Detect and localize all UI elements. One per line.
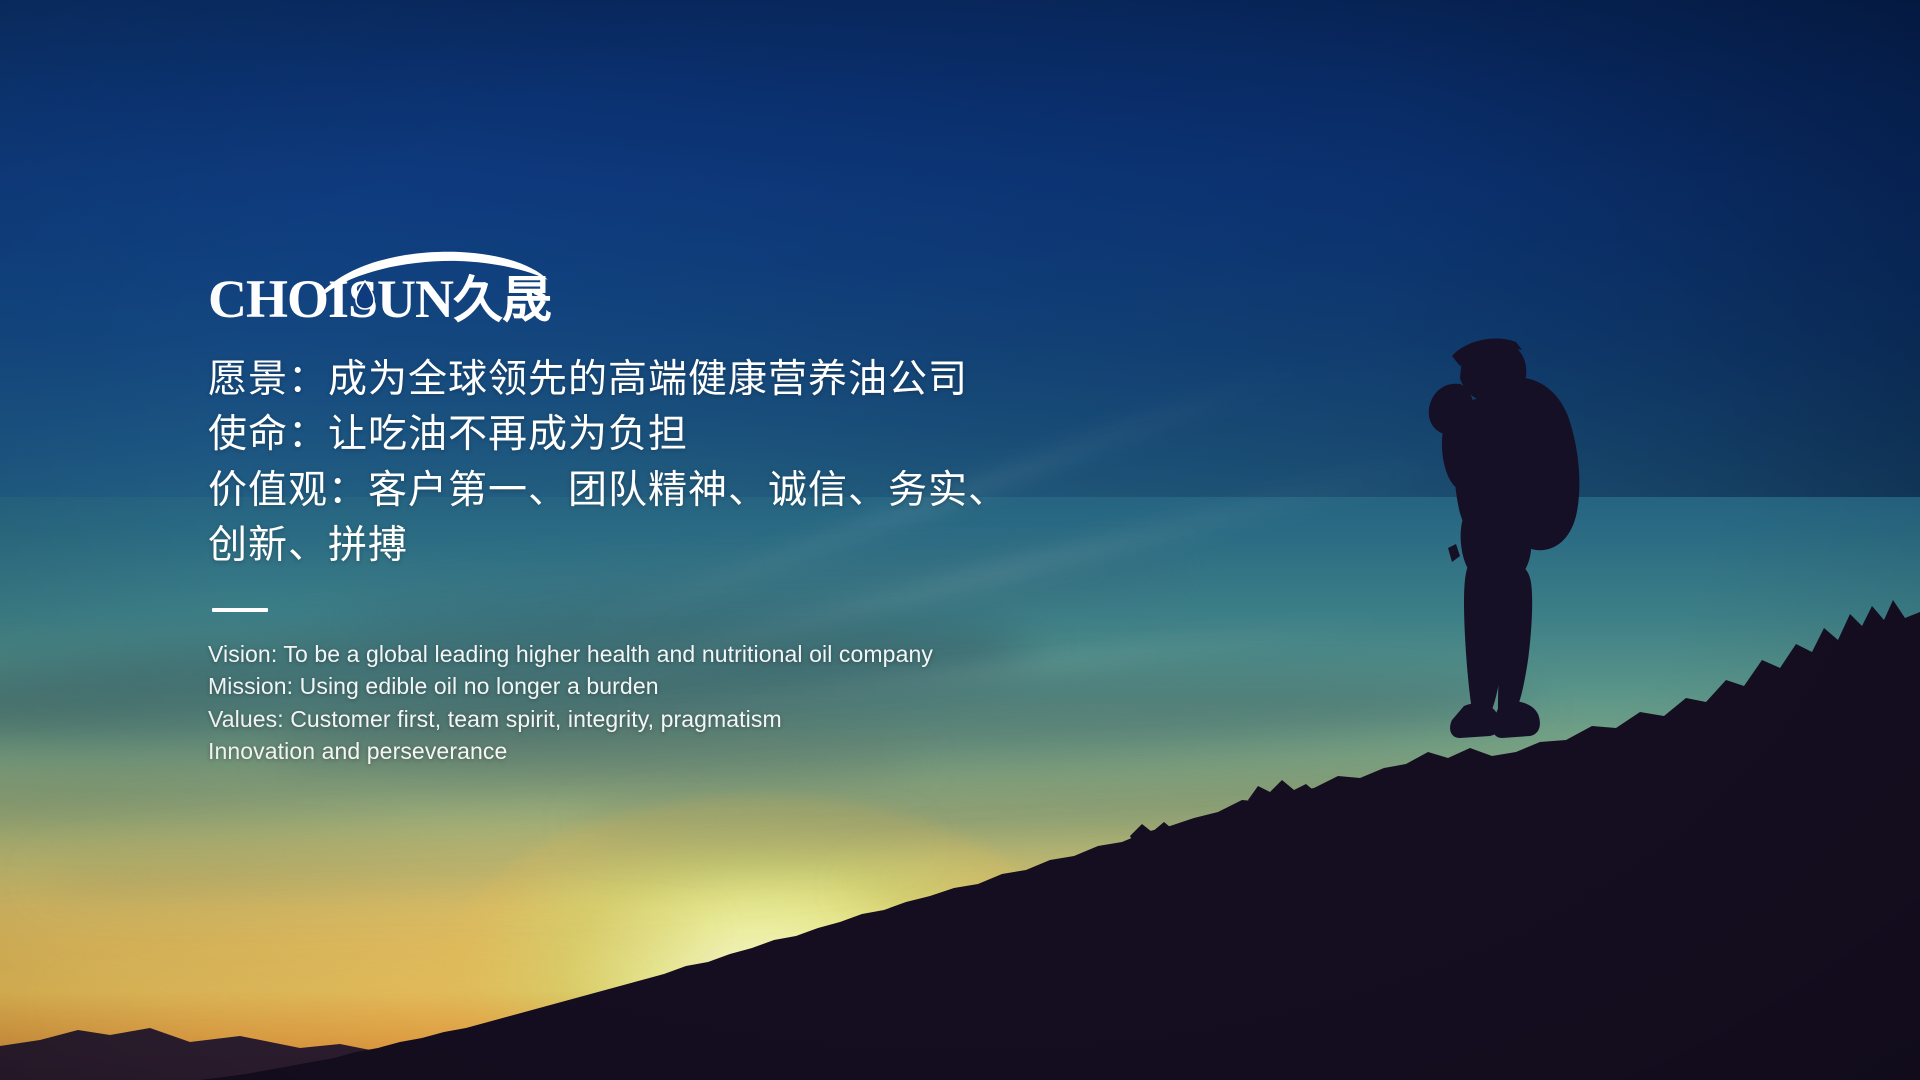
brand-logo[interactable]: CHOISUN久晟 <box>208 250 548 338</box>
statement-chinese: 愿景：成为全球领先的高端健康营养油公司 使命：让吃油不再成为负担 价值观：客户第… <box>208 352 1108 574</box>
mission-line-en: Mission: Using edible oil no longer a bu… <box>208 670 1108 703</box>
hero-banner: CHOISUN久晟 愿景：成为全球领先的高端健康营养油公司 使命：让吃油不再成为… <box>0 0 1920 1080</box>
values-line-en-b: Innovation and perseverance <box>208 735 1108 768</box>
values-line-en-a: Values: Customer first, team spirit, int… <box>208 703 1108 736</box>
values-line-cn-a: 价值观：客户第一、团队精神、诚信、务实、 <box>208 463 1108 518</box>
vision-line-en: Vision: To be a global leading higher he… <box>208 638 1108 671</box>
brand-logo-cjk: 久晟 <box>453 271 551 329</box>
brand-logo-text: CHOISUN久晟 <box>208 272 551 326</box>
content-block: CHOISUN久晟 愿景：成为全球领先的高端健康营养油公司 使命：让吃油不再成为… <box>208 250 1108 768</box>
values-line-cn-b: 创新、拼搏 <box>208 518 1108 573</box>
statement-english: Vision: To be a global leading higher he… <box>208 638 1108 769</box>
brand-logo-latin: CHOISUN <box>208 269 453 329</box>
mission-line-cn: 使命：让吃油不再成为负担 <box>208 407 1108 462</box>
section-divider <box>212 608 268 612</box>
vision-line-cn: 愿景：成为全球领先的高端健康营养油公司 <box>208 352 1108 407</box>
hiker-with-binoculars-silhouette <box>1390 330 1620 760</box>
